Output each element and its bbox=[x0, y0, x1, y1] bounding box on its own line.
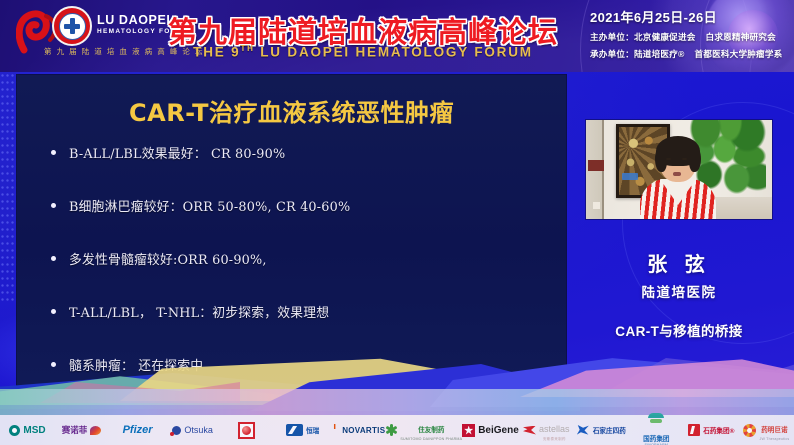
speaker-mouth bbox=[673, 172, 681, 176]
speaker-eye bbox=[666, 158, 671, 160]
sponsor-name: astellas bbox=[539, 424, 570, 434]
forum-logo: LU DAOPEI HEMATOLOGY FORUM 第 九 届 陆 道 培 血… bbox=[16, 4, 176, 66]
sponsor-sanofi: 赛诺菲 bbox=[55, 415, 110, 445]
red-square-logo-icon bbox=[238, 422, 255, 439]
logo-english-name: LU DAOPEI bbox=[97, 14, 170, 26]
sponsor-subname: 安斯泰来制药 bbox=[539, 437, 570, 442]
cspc-logo-icon bbox=[688, 424, 700, 436]
sponsor-astellas: astellas 安斯泰来制药 bbox=[519, 415, 574, 445]
speaker-topic: CAR-T与移植的桥接 bbox=[586, 320, 772, 340]
sponsor-subname: JW Therapeutics bbox=[759, 437, 789, 441]
sponsor-beigene: BeiGene bbox=[462, 415, 519, 445]
banner-title-en-sup: TH bbox=[240, 44, 254, 53]
sponsor-name: 石药集团® bbox=[703, 425, 734, 435]
sumitomo-logo-icon bbox=[385, 424, 397, 436]
medical-cross-badge-icon bbox=[52, 6, 92, 46]
event-date: 2021年6月25日-26日 bbox=[590, 7, 790, 26]
speaker-hair-side bbox=[689, 146, 701, 172]
organizer-label: 承办单位： bbox=[590, 49, 634, 59]
sinopharm-logo-icon bbox=[648, 413, 664, 428]
sponsor-jw: 药明巨诺 JW Therapeutics bbox=[739, 415, 794, 445]
banner-title-en-pre: THE 9 bbox=[193, 45, 240, 60]
sponsor-sumitomo: 住友制药 SUMITOMO DAINIPPON PHARMA bbox=[385, 415, 462, 445]
decorative-wave-band bbox=[0, 355, 794, 415]
sponsor-pfizer: Pfizer bbox=[110, 415, 165, 445]
bullet-item: B-ALL/LBL效果最好： CR 80-90% bbox=[39, 143, 559, 162]
sponsor-logo-bar: MSD 赛诺菲 Pfizer Otsuka 恒瑞 NOVARTIS bbox=[0, 415, 794, 445]
speaker-organization: 陆道培医院 bbox=[586, 281, 772, 301]
broadcast-screen: LU DAOPEI HEMATOLOGY FORUM 第 九 届 陆 道 培 血… bbox=[0, 0, 794, 445]
sponsor-name: 药明巨诺 bbox=[761, 427, 787, 434]
sponsor-otsuka: Otsuka bbox=[165, 415, 220, 445]
host-org-1: 北京健康促进会 bbox=[634, 32, 696, 42]
slide-title: CAR-T治疗血液系统恶性肿瘤 bbox=[17, 93, 566, 128]
bullet-item: T-ALL/LBL， T-NHL：初步探索，效果理想 bbox=[39, 302, 559, 321]
sponsor-msd: MSD bbox=[0, 415, 55, 445]
event-organizers: 承办单位：陆道培医疗®首都医科大学肿瘤学系 bbox=[590, 48, 790, 60]
bullet-item: B细胞淋巴瘤较好：ORR 50-80%, CR 40-60% bbox=[39, 196, 559, 215]
speaker-eye bbox=[682, 158, 687, 160]
slide-bullet-list: B-ALL/LBL效果最好： CR 80-90% B细胞淋巴瘤较好：ORR 50… bbox=[39, 143, 559, 374]
sponsor-name: Pfizer bbox=[123, 424, 153, 436]
astellas-logo-icon bbox=[523, 426, 536, 435]
banner-title-en-post: LU DAOPEI HEMATOLOGY FORUM bbox=[255, 45, 533, 60]
sponsor-novartis: NOVARTIS bbox=[330, 415, 385, 445]
banner-title-en: THE 9TH LU DAOPEI HEMATOLOGY FORUM bbox=[163, 44, 563, 60]
sponsor-name: 国药集团 bbox=[643, 433, 669, 443]
sponsor-red-square bbox=[220, 415, 275, 445]
sponsor-name: 赛诺菲 bbox=[62, 424, 88, 436]
sponsor-name: NOVARTIS bbox=[342, 426, 385, 435]
video-wall-plate bbox=[588, 160, 604, 171]
organizer-org-1: 陆道培医疗® bbox=[634, 49, 685, 59]
bullet-item: 多发性骨髓瘤较好:ORR 60-90%, bbox=[39, 249, 559, 268]
beigene-logo-icon bbox=[462, 424, 475, 437]
sponsor-name: BeiGene bbox=[478, 425, 519, 436]
speaker-video-feed[interactable] bbox=[586, 120, 772, 219]
organizer-org-2: 首都医科大学肿瘤学系 bbox=[695, 49, 783, 59]
sponsor-name: 住友制药 bbox=[418, 427, 444, 434]
speaker-name: 张 弦 bbox=[586, 248, 772, 277]
sponsor-subname: SUMITOMO DAINIPPON PHARMA bbox=[400, 437, 462, 441]
novartis-logo-icon bbox=[330, 424, 339, 436]
jw-logo-icon bbox=[743, 424, 756, 437]
sponsor-name: MSD bbox=[23, 425, 45, 436]
sponsor-hengrui: 恒瑞 bbox=[275, 415, 330, 445]
sponsor-name: 石家庄四药 bbox=[593, 425, 626, 435]
sjzsy-logo-icon bbox=[577, 424, 590, 436]
event-hosts: 主办单位：北京健康促进会白求恩精神研究会 bbox=[590, 31, 790, 43]
sponsor-name: Otsuka bbox=[184, 425, 213, 435]
sponsor-sinopharm: 国药集团 SINOPHARM bbox=[629, 415, 684, 445]
host-label: 主办单位： bbox=[590, 32, 634, 42]
presentation-slide[interactable]: CAR-T治疗血液系统恶性肿瘤 B-ALL/LBL效果最好： CR 80-90%… bbox=[17, 75, 566, 385]
msd-logo-icon bbox=[9, 425, 20, 436]
otsuka-logo-icon bbox=[172, 426, 181, 435]
video-picture-detail bbox=[622, 173, 638, 180]
sanofi-logo-icon bbox=[90, 425, 103, 436]
sponsor-sjzsy: 石家庄四药 bbox=[574, 415, 629, 445]
host-org-2: 白求恩精神研究会 bbox=[706, 32, 776, 42]
event-meta-block: 2021年6月25日-26日 主办单位：北京健康促进会白求恩精神研究会 承办单位… bbox=[590, 7, 790, 60]
hengrui-logo-icon bbox=[286, 424, 303, 436]
sponsor-name: 恒瑞 bbox=[306, 425, 319, 435]
event-header-banner: LU DAOPEI HEMATOLOGY FORUM 第 九 届 陆 道 培 血… bbox=[0, 0, 794, 72]
sponsor-cspc: 石药集团® bbox=[684, 415, 739, 445]
